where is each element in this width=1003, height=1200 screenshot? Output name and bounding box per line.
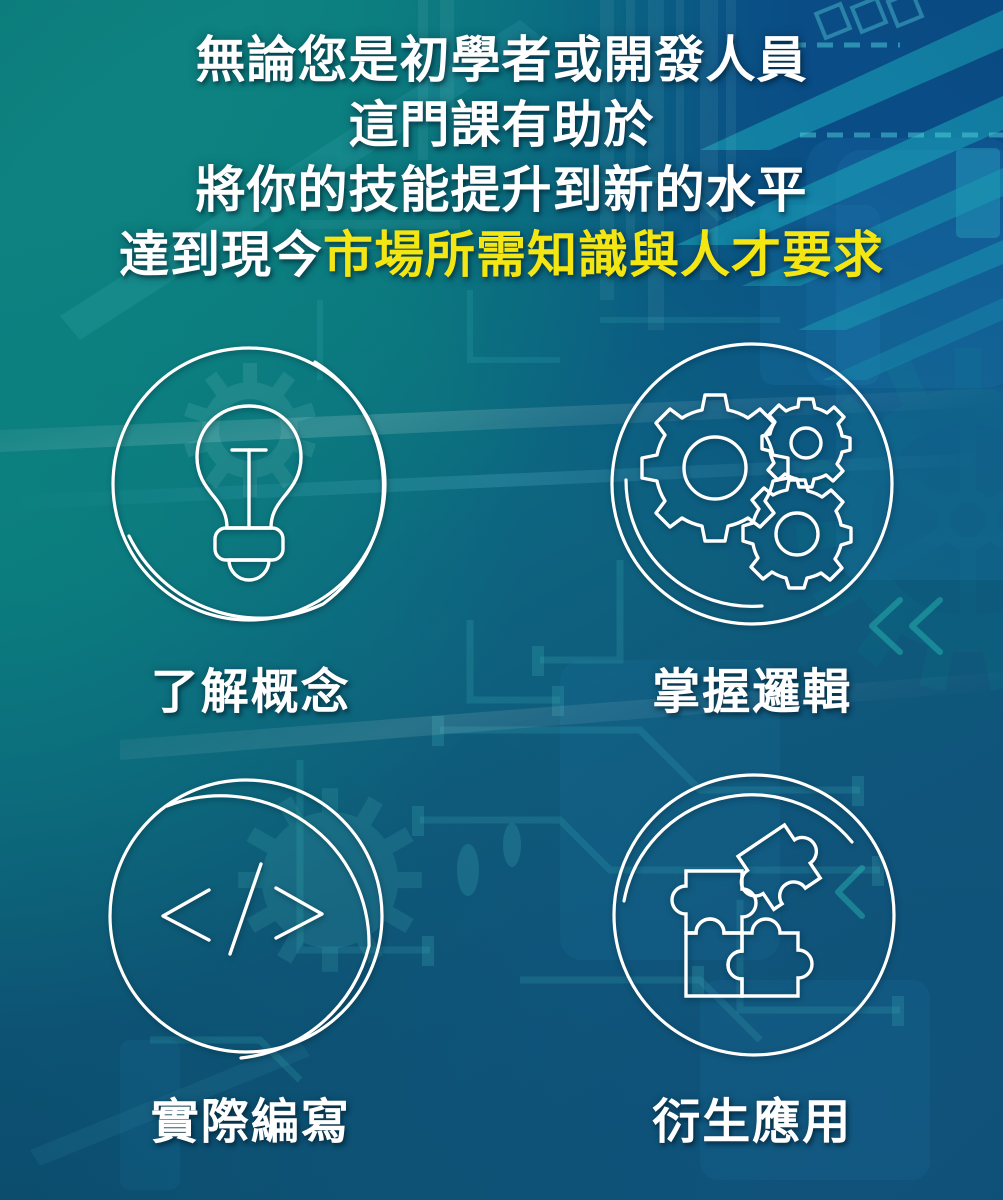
- headline-line-4-accent: 市場所需知識與人才要求: [323, 227, 884, 283]
- code-bracket-left: [163, 890, 209, 940]
- puzzle-piece-bottom-left: [686, 919, 742, 996]
- gears-icon: [602, 338, 902, 638]
- code-slash: [230, 864, 261, 954]
- feature-grid: 了解概念: [0, 338, 1003, 1198]
- feature-label-concept: 了解概念: [151, 652, 351, 722]
- promo-banner: 無論您是初學者或開發人員 這門課有助於 將你的技能提升到新的水平 達到現今市場所…: [0, 0, 1003, 1200]
- code-brackets-icon: [101, 768, 401, 1068]
- puzzle-piece-detached: [727, 817, 832, 917]
- feature-item-coding: 實際編寫: [31, 768, 471, 1198]
- gear-large: [642, 395, 788, 541]
- gear-small: [762, 399, 850, 487]
- code-bracket-right: [276, 888, 322, 938]
- headline-line-2: 這門課有助於: [0, 93, 1003, 158]
- headline-line-3: 將你的技能提升到新的水平: [0, 158, 1003, 223]
- feature-item-logic: 掌握邏輯: [532, 338, 972, 768]
- icon-ring-accent: [626, 480, 762, 606]
- lightbulb-icon: [101, 338, 401, 638]
- feature-item-application: 衍生應用: [532, 768, 972, 1198]
- icon-ring-primary: [612, 344, 892, 624]
- feature-label-application: 衍生應用: [652, 1082, 852, 1152]
- icon-ring-accent: [167, 796, 369, 1058]
- headline-line-4: 達到現今市場所需知識與人才要求: [0, 223, 1003, 288]
- icon-ring-primary: [614, 775, 894, 1055]
- puzzle-piece-top-left: [672, 871, 756, 933]
- feature-item-concept: 了解概念: [31, 338, 471, 768]
- feature-label-coding: 實際編寫: [151, 1082, 351, 1152]
- headline: 無論您是初學者或開發人員 這門課有助於 將你的技能提升到新的水平 達到現今市場所…: [0, 28, 1003, 288]
- lightbulb-base: [215, 528, 283, 560]
- headline-line-1: 無論您是初學者或開發人員: [0, 28, 1003, 93]
- lightbulb-tip: [229, 560, 269, 580]
- puzzle-pieces-icon: [602, 768, 902, 1068]
- headline-line-4-plain: 達到現今: [119, 227, 323, 283]
- gear-medium: [743, 480, 851, 588]
- icon-ring-primary: [110, 780, 382, 1052]
- feature-label-logic: 掌握邏輯: [652, 652, 852, 722]
